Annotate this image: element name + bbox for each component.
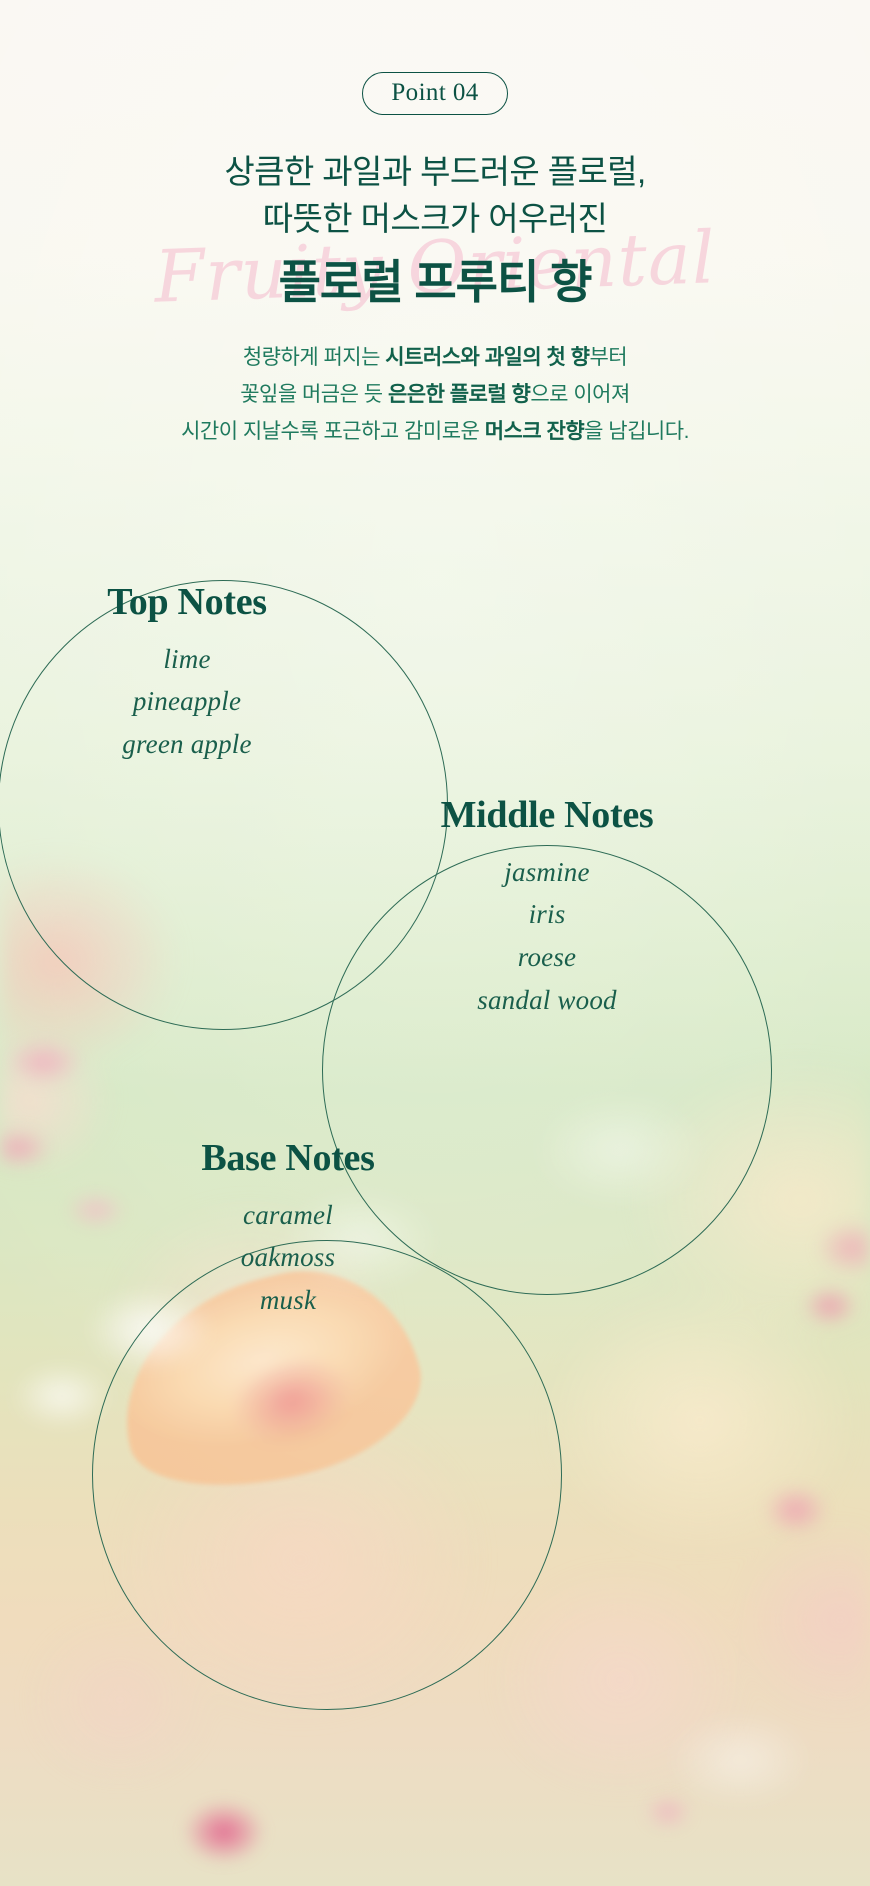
base-notes-title: Base Notes bbox=[128, 1138, 448, 1180]
body-line-3: 시간이 지날수록 포근하고 감미로운 머스크 잔향을 남깁니다. bbox=[0, 413, 870, 450]
middle-notes-item: jasmine bbox=[382, 851, 712, 894]
headline-line-1: 상큼한 과일과 부드러운 플로럴, bbox=[0, 149, 870, 196]
base-notes-group: Base Notes caramel oakmoss musk bbox=[128, 1138, 448, 1322]
headline-block: Fruity Oriental 상큼한 과일과 부드러운 플로럴, 따뜻한 머스… bbox=[0, 149, 870, 313]
base-notes-item: musk bbox=[128, 1279, 448, 1322]
middle-notes-title: Middle Notes bbox=[382, 795, 712, 837]
middle-notes-item: sandal wood bbox=[382, 979, 712, 1022]
middle-notes-group: Middle Notes jasmine iris roese sandal w… bbox=[382, 795, 712, 1021]
body-line-2: 꽃잎을 머금은 듯 은은한 플로럴 향으로 이어져 bbox=[0, 376, 870, 413]
body-line-1-part-c: 부터 bbox=[589, 346, 627, 369]
body-line-2-part-a: 꽃잎을 머금은 듯 bbox=[240, 383, 388, 406]
point-badge: Point 04 bbox=[362, 72, 507, 115]
page-content: Point 04 Fruity Oriental 상큼한 과일과 부드러운 플로… bbox=[0, 0, 870, 451]
body-line-3-highlight: 머스크 잔향 bbox=[485, 420, 584, 443]
point-badge-container: Point 04 bbox=[0, 0, 870, 115]
body-line-1-highlight: 시트러스와 과일의 첫 향 bbox=[385, 346, 589, 369]
top-notes-item: green apple bbox=[62, 723, 312, 766]
base-notes-item: oakmoss bbox=[128, 1236, 448, 1279]
body-line-3-part-c: 을 남깁니다. bbox=[584, 420, 689, 443]
body-line-2-part-c: 으로 이어져 bbox=[530, 383, 629, 406]
top-notes-item: pineapple bbox=[62, 680, 312, 723]
body-line-3-part-a: 시간이 지날수록 포근하고 감미로운 bbox=[181, 420, 485, 443]
body-line-2-highlight: 은은한 플로럴 향 bbox=[388, 383, 530, 406]
middle-notes-item: roese bbox=[382, 936, 712, 979]
top-notes-group: Top Notes lime pineapple green apple bbox=[62, 582, 312, 766]
base-notes-item: caramel bbox=[128, 1194, 448, 1237]
body-copy: 청량하게 퍼지는 시트러스와 과일의 첫 향부터 꽃잎을 머금은 듯 은은한 플… bbox=[0, 339, 870, 451]
headline-line-2: 따뜻한 머스크가 어우러진 bbox=[0, 196, 870, 243]
body-line-1: 청량하게 퍼지는 시트러스와 과일의 첫 향부터 bbox=[0, 339, 870, 376]
product-detail-page: Point 04 Fruity Oriental 상큼한 과일과 부드러운 플로… bbox=[0, 0, 870, 1886]
top-notes-item: lime bbox=[62, 638, 312, 681]
top-notes-title: Top Notes bbox=[62, 582, 312, 624]
body-line-1-part-a: 청량하게 퍼지는 bbox=[243, 346, 385, 369]
middle-notes-item: iris bbox=[382, 893, 712, 936]
headline-emphasis: 플로럴 프루티 향 bbox=[0, 253, 870, 313]
